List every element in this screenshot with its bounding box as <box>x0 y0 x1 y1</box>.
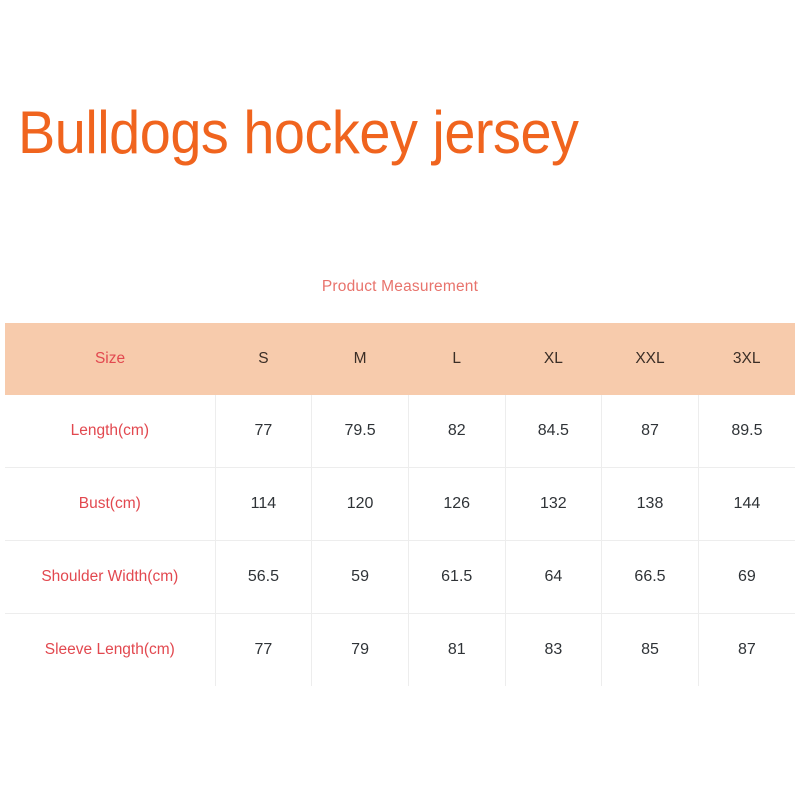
cell-shoulder-xl: 64 <box>505 541 602 614</box>
cell-sleeve-m: 79 <box>312 614 409 687</box>
column-header-3xl: 3XL <box>698 323 795 395</box>
cell-shoulder-xxl: 66.5 <box>602 541 699 614</box>
cell-length-l: 82 <box>408 395 505 468</box>
row-label-shoulder-width: Shoulder Width(cm) <box>5 541 215 614</box>
cell-bust-s: 114 <box>215 468 312 541</box>
cell-shoulder-3xl: 69 <box>698 541 795 614</box>
cell-shoulder-m: 59 <box>312 541 409 614</box>
cell-sleeve-l: 81 <box>408 614 505 687</box>
size-chart-container: Size S M L XL XXL 3XL Length(cm) 77 79.5… <box>5 323 795 686</box>
row-label-length: Length(cm) <box>5 395 215 468</box>
size-chart-body: Length(cm) 77 79.5 82 84.5 87 89.5 Bust(… <box>5 395 795 686</box>
cell-length-m: 79.5 <box>312 395 409 468</box>
size-chart-table: Size S M L XL XXL 3XL Length(cm) 77 79.5… <box>5 323 795 686</box>
cell-bust-xl: 132 <box>505 468 602 541</box>
cell-length-3xl: 89.5 <box>698 395 795 468</box>
cell-shoulder-s: 56.5 <box>215 541 312 614</box>
cell-sleeve-xxl: 85 <box>602 614 699 687</box>
table-row: Shoulder Width(cm) 56.5 59 61.5 64 66.5 … <box>5 541 795 614</box>
cell-sleeve-3xl: 87 <box>698 614 795 687</box>
table-row: Length(cm) 77 79.5 82 84.5 87 89.5 <box>5 395 795 468</box>
cell-bust-l: 126 <box>408 468 505 541</box>
cell-sleeve-xl: 83 <box>505 614 602 687</box>
product-measurement-caption: Product Measurement <box>0 278 800 296</box>
cell-bust-3xl: 144 <box>698 468 795 541</box>
cell-length-xl: 84.5 <box>505 395 602 468</box>
size-chart-head: Size S M L XL XXL 3XL <box>5 323 795 395</box>
cell-bust-m: 120 <box>312 468 409 541</box>
table-row: Bust(cm) 114 120 126 132 138 144 <box>5 468 795 541</box>
row-label-sleeve-length: Sleeve Length(cm) <box>5 614 215 687</box>
table-row: Sleeve Length(cm) 77 79 81 83 85 87 <box>5 614 795 687</box>
column-header-size: Size <box>5 323 215 395</box>
cell-shoulder-l: 61.5 <box>408 541 505 614</box>
column-header-l: L <box>408 323 505 395</box>
cell-length-xxl: 87 <box>602 395 699 468</box>
row-label-bust: Bust(cm) <box>5 468 215 541</box>
page-title: Bulldogs hockey jersey <box>18 98 734 168</box>
cell-bust-xxl: 138 <box>602 468 699 541</box>
column-header-xxl: XXL <box>602 323 699 395</box>
cell-length-s: 77 <box>215 395 312 468</box>
table-header-row: Size S M L XL XXL 3XL <box>5 323 795 395</box>
column-header-s: S <box>215 323 312 395</box>
cell-sleeve-s: 77 <box>215 614 312 687</box>
column-header-m: M <box>312 323 409 395</box>
column-header-xl: XL <box>505 323 602 395</box>
